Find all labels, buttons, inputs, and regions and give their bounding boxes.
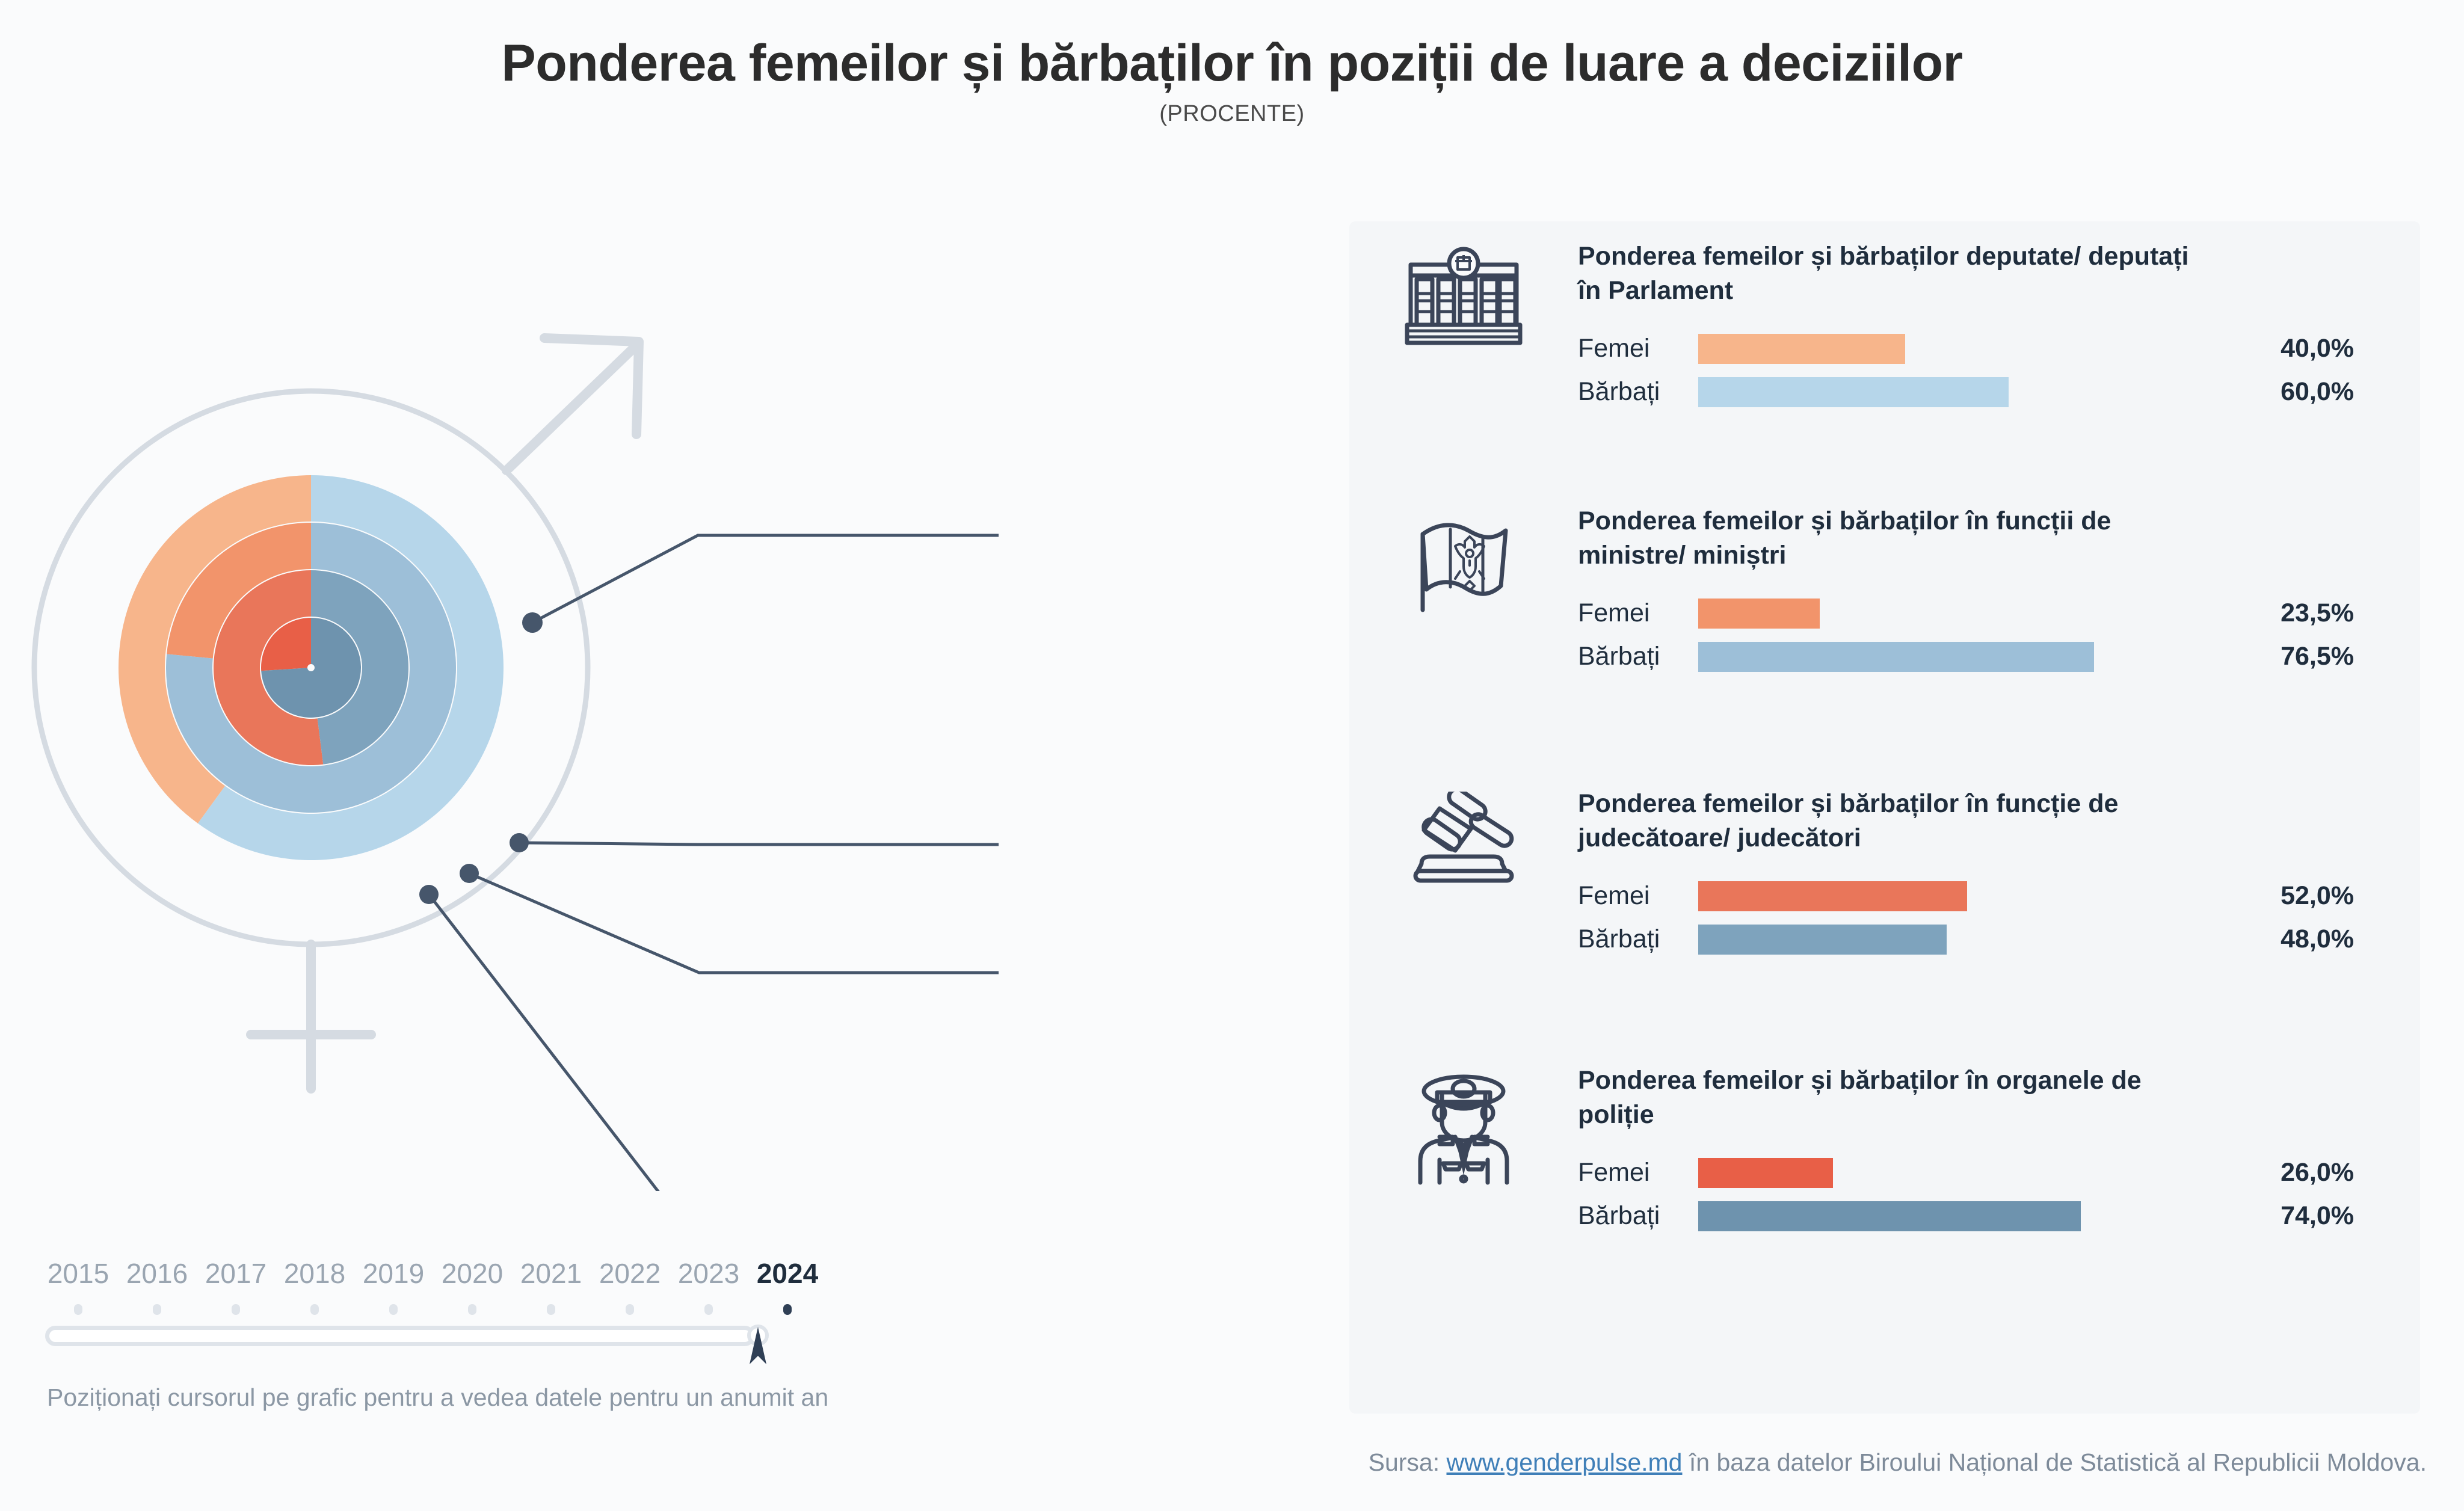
connector-lines [0,198,1341,1191]
bar-track-men [1698,1201,2216,1231]
year-label-2022[interactable]: 2022 [599,1257,661,1290]
year-label-2020[interactable]: 2020 [442,1257,503,1290]
year-labels[interactable]: 2015201620172018201920202021202220232024 [45,1257,996,1299]
card-body: Ponderea femeilor și bărbaților în funcț… [1578,787,2420,964]
bar-track-men [1698,377,2216,407]
card-title: Ponderea femeilor și bărbaților în organ… [1578,1063,2216,1132]
bar-track-men [1698,642,2216,672]
year-tick-2021[interactable] [547,1304,555,1315]
year-tick-2022[interactable] [626,1304,634,1315]
source-prefix: Sursa: [1369,1448,1447,1476]
police-officer-icon [1349,1063,1578,1240]
bar-row-women: Femei26,0% [1578,1154,2372,1192]
bar-label-women: Femei [1578,881,1698,911]
connector-line-4 [429,894,999,1191]
bar-fill-men [1698,377,2009,407]
bar-fill-women [1698,599,1820,629]
connector-dot-1 [522,612,543,633]
year-tick-2020[interactable] [468,1304,476,1315]
bar-row-men: Bărbați74,0% [1578,1197,2372,1236]
year-label-2017[interactable]: 2017 [205,1257,266,1290]
bar-fill-women [1698,881,1967,911]
bar-value-men: 76,5% [2216,642,2354,671]
year-label-2015[interactable]: 2015 [48,1257,109,1290]
bar-fill-men [1698,925,1947,955]
page-title: Ponderea femeilor și bărbaților în poziț… [0,36,2464,90]
timeline-slider[interactable] [45,1320,996,1353]
year-label-2023[interactable]: 2023 [678,1257,739,1290]
bar-label-men: Bărbați [1578,1201,1698,1231]
connector-line-2 [519,843,999,845]
bar-row-women: Femei23,5% [1578,594,2372,633]
bar-fill-women [1698,334,1905,364]
indicator-card: Ponderea femeilor și bărbaților în funcț… [1349,787,2420,964]
timeline-hint: Poziționați cursorul pe grafic pentru a … [47,1383,828,1412]
connector-line-3 [469,873,999,973]
bar-label-women: Femei [1578,1158,1698,1187]
bar-value-men: 74,0% [2216,1201,2354,1231]
bar-fill-men [1698,642,2094,672]
bar-label-women: Femei [1578,599,1698,628]
bar-track-men [1698,925,2216,955]
bar-value-women: 40,0% [2216,334,2354,363]
card-title: Ponderea femeilor și bărbaților în funcț… [1578,787,2216,855]
year-tick-2018[interactable] [310,1304,319,1315]
connector-dot-4 [419,885,439,904]
source-suffix: în baza datelor Biroului Național de Sta… [1682,1448,2427,1476]
card-body: Ponderea femeilor și bărbaților deputate… [1578,239,2420,416]
slider-track[interactable] [45,1326,755,1346]
year-label-2019[interactable]: 2019 [363,1257,424,1290]
source-footer: Sursa: www.genderpulse.md în baza datelo… [1369,1448,2427,1477]
gavel-icon [1349,787,1578,964]
indicator-card: Ponderea femeilor și bărbaților în funcț… [1349,504,2420,681]
bar-value-women: 23,5% [2216,599,2354,628]
indicator-card: Ponderea femeilor și bărbaților în organ… [1349,1063,2420,1240]
card-title: Ponderea femeilor și bărbaților deputate… [1578,239,2216,308]
year-tick-2017[interactable] [232,1304,240,1315]
card-title: Ponderea femeilor și bărbaților în funcț… [1578,504,2216,573]
year-label-2018[interactable]: 2018 [284,1257,345,1290]
year-tick-2016[interactable] [153,1304,161,1315]
slider-handle[interactable] [745,1322,771,1367]
year-timeline[interactable]: 2015201620172018201920202021202220232024 [45,1257,996,1353]
source-link[interactable]: www.genderpulse.md [1447,1448,1683,1476]
page-subtitle: (PROCENTE) [0,101,2464,127]
connector-dot-3 [460,864,479,883]
year-ticks[interactable] [45,1299,996,1320]
bar-value-men: 60,0% [2216,377,2354,407]
parliament-building-icon [1349,239,1578,416]
bar-value-men: 48,0% [2216,925,2354,954]
bar-fill-women [1698,1158,1833,1188]
year-tick-2023[interactable] [704,1304,713,1315]
header: Ponderea femeilor și bărbaților în poziț… [0,36,2464,127]
bar-label-men: Bărbați [1578,925,1698,954]
bar-row-women: Femei40,0% [1578,330,2372,368]
bar-label-men: Bărbați [1578,642,1698,671]
bar-track-women [1698,334,2216,364]
bar-row-men: Bărbați48,0% [1578,920,2372,959]
card-body: Ponderea femeilor și bărbaților în funcț… [1578,504,2420,681]
year-tick-2024[interactable] [783,1304,792,1315]
bar-label-women: Femei [1578,334,1698,363]
connector-line-1 [532,535,999,623]
year-label-2016[interactable]: 2016 [126,1257,188,1290]
bar-row-men: Bărbați76,5% [1578,638,2372,676]
bar-row-women: Femei52,0% [1578,877,2372,916]
year-label-2024[interactable]: 2024 [757,1257,818,1290]
bar-label-men: Bărbați [1578,377,1698,407]
year-tick-2015[interactable] [74,1304,82,1315]
connector-dot-2 [510,833,529,852]
indicator-panel: Ponderea femeilor și bărbaților deputate… [1349,221,2420,1414]
donut-chart-area[interactable] [0,198,1341,1191]
bar-track-women [1698,881,2216,911]
year-tick-2019[interactable] [389,1304,398,1315]
bar-row-men: Bărbați60,0% [1578,373,2372,411]
bar-value-women: 26,0% [2216,1158,2354,1187]
card-body: Ponderea femeilor și bărbaților în organ… [1578,1063,2420,1240]
year-label-2021[interactable]: 2021 [520,1257,582,1290]
bar-track-women [1698,599,2216,629]
bar-value-women: 52,0% [2216,881,2354,911]
bar-fill-men [1698,1201,2081,1231]
indicator-card: Ponderea femeilor și bărbaților deputate… [1349,239,2420,416]
bar-track-women [1698,1158,2216,1188]
moldova-flag-icon [1349,504,1578,681]
